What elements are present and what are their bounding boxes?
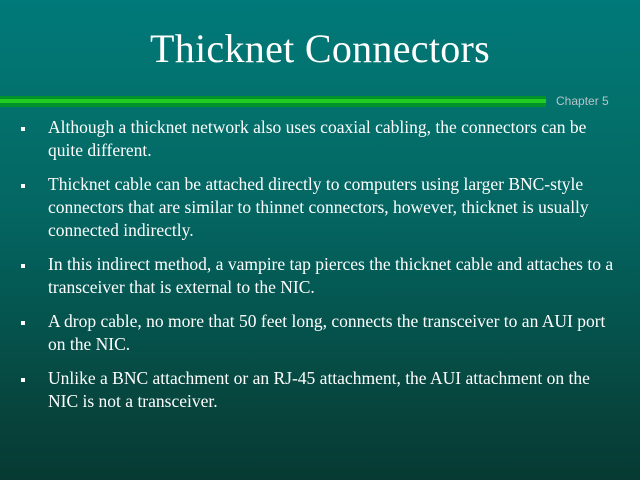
list-item-text: Although a thicknet network also uses co… <box>48 116 614 162</box>
list-item-text: A drop cable, no more that 50 feet long,… <box>48 310 614 356</box>
title-area: Thicknet Connectors <box>0 26 640 72</box>
bullet-square-icon <box>21 321 25 325</box>
bullet-square-icon <box>21 184 25 188</box>
bullet-square-icon <box>21 378 25 382</box>
list-item: Although a thicknet network also uses co… <box>0 116 640 162</box>
bullet-square-icon <box>21 264 25 268</box>
chapter-label: Chapter 5 <box>556 93 609 109</box>
list-item: Thicknet cable can be attached directly … <box>0 173 640 242</box>
bullet-list: Although a thicknet network also uses co… <box>0 116 640 424</box>
list-item-text: In this indirect method, a vampire tap p… <box>48 253 614 299</box>
list-item: A drop cable, no more that 50 feet long,… <box>0 310 640 356</box>
divider-stripe-lower <box>0 103 546 107</box>
divider-bar <box>0 96 546 108</box>
page-title: Thicknet Connectors <box>0 26 640 72</box>
presentation-slide: Thicknet Connectors Chapter 5 Although a… <box>0 0 640 480</box>
bullet-square-icon <box>21 127 25 131</box>
list-item-text: Thicknet cable can be attached directly … <box>48 173 614 242</box>
list-item: Unlike a BNC attachment or an RJ-45 atta… <box>0 367 640 413</box>
list-item: In this indirect method, a vampire tap p… <box>0 253 640 299</box>
list-item-text: Unlike a BNC attachment or an RJ-45 atta… <box>48 367 614 413</box>
